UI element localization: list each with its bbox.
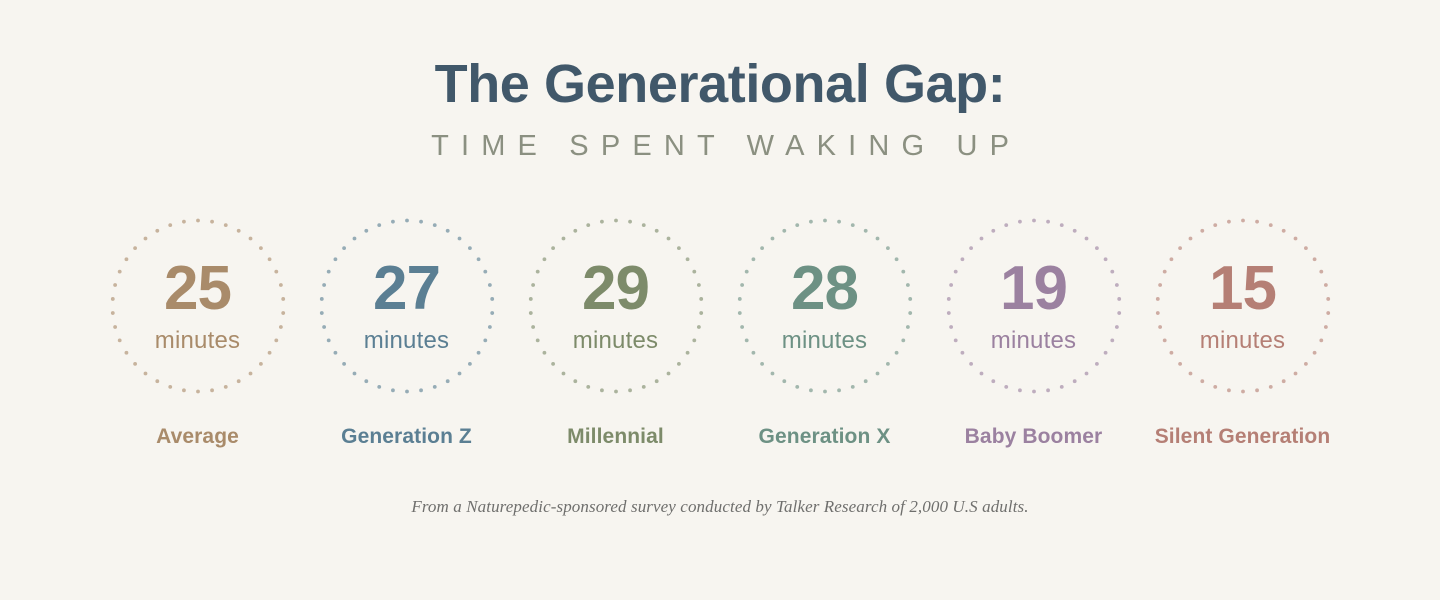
stat-value: 19 (1000, 258, 1067, 320)
stat-ring: 28minutes (736, 217, 914, 395)
stat-value: 29 (582, 258, 649, 320)
stat-label: Generation Z (341, 425, 472, 449)
infographic-root: The Generational Gap: TIME SPENT WAKING … (0, 0, 1440, 600)
stat-ring-content: 27minutes (364, 258, 449, 353)
footnote: From a Naturepedic-sponsored survey cond… (411, 497, 1028, 517)
stat-ring: 25minutes (109, 217, 287, 395)
stat-unit: minutes (155, 329, 240, 353)
stat-ring: 27minutes (318, 217, 496, 395)
stat-ring-content: 19minutes (991, 258, 1076, 353)
stat-value: 27 (373, 258, 440, 320)
stat-item: 25minutesAverage (93, 217, 302, 449)
stat-ring-content: 28minutes (782, 258, 867, 353)
stat-item: 29minutesMillennial (511, 217, 720, 449)
stat-item: 15minutesSilent Generation (1138, 217, 1347, 449)
stat-item: 28minutesGeneration X (720, 217, 929, 449)
stat-value: 15 (1209, 258, 1276, 320)
stat-item: 27minutesGeneration Z (302, 217, 511, 449)
stat-label: Baby Boomer (965, 425, 1103, 449)
stat-ring: 29minutes (527, 217, 705, 395)
stat-unit: minutes (573, 329, 658, 353)
stat-ring-content: 25minutes (155, 258, 240, 353)
header: The Generational Gap: TIME SPENT WAKING … (0, 56, 1440, 161)
stat-item: 19minutesBaby Boomer (929, 217, 1138, 449)
stat-unit: minutes (1200, 329, 1285, 353)
stat-unit: minutes (364, 329, 449, 353)
stats-row: 25minutesAverage27minutesGeneration Z29m… (0, 217, 1440, 449)
stat-label: Average (156, 425, 239, 449)
page-title: The Generational Gap: (0, 56, 1440, 113)
page-subtitle: TIME SPENT WAKING UP (0, 132, 1440, 161)
stat-unit: minutes (782, 329, 867, 353)
stat-label: Generation X (759, 425, 891, 449)
stat-value: 25 (164, 258, 231, 320)
stat-ring-content: 29minutes (573, 258, 658, 353)
stat-ring: 15minutes (1154, 217, 1332, 395)
stat-ring-content: 15minutes (1200, 258, 1285, 353)
stat-label: Millennial (567, 425, 664, 449)
stat-label: Silent Generation (1155, 425, 1331, 449)
stat-ring: 19minutes (945, 217, 1123, 395)
stat-unit: minutes (991, 329, 1076, 353)
stat-value: 28 (791, 258, 858, 320)
